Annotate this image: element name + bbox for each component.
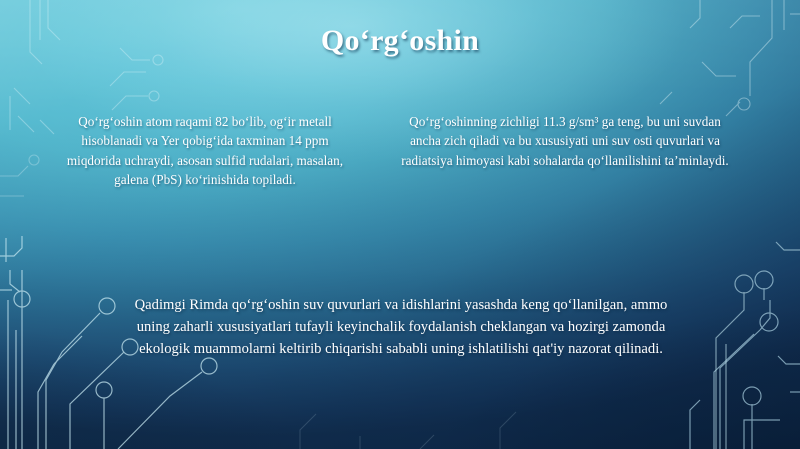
- presentation-slide: Qo‘rg‘oshin Qo‘rg‘oshin atom raqami 82 b…: [0, 0, 800, 449]
- slide-content: Qo‘rg‘oshin Qo‘rg‘oshin atom raqami 82 b…: [0, 0, 800, 449]
- text-column-left: Qo‘rg‘oshin atom raqami 82 bo‘lib, og‘ir…: [56, 112, 354, 190]
- bottom-paragraph: Qadimgi Rimda qo‘rg‘oshin suv quvurlari …: [120, 294, 682, 361]
- text-column-right: Qo‘rg‘oshinning zichligi 11.3 g/sm³ ga t…: [400, 112, 730, 170]
- slide-title: Qo‘rg‘oshin: [0, 24, 800, 58]
